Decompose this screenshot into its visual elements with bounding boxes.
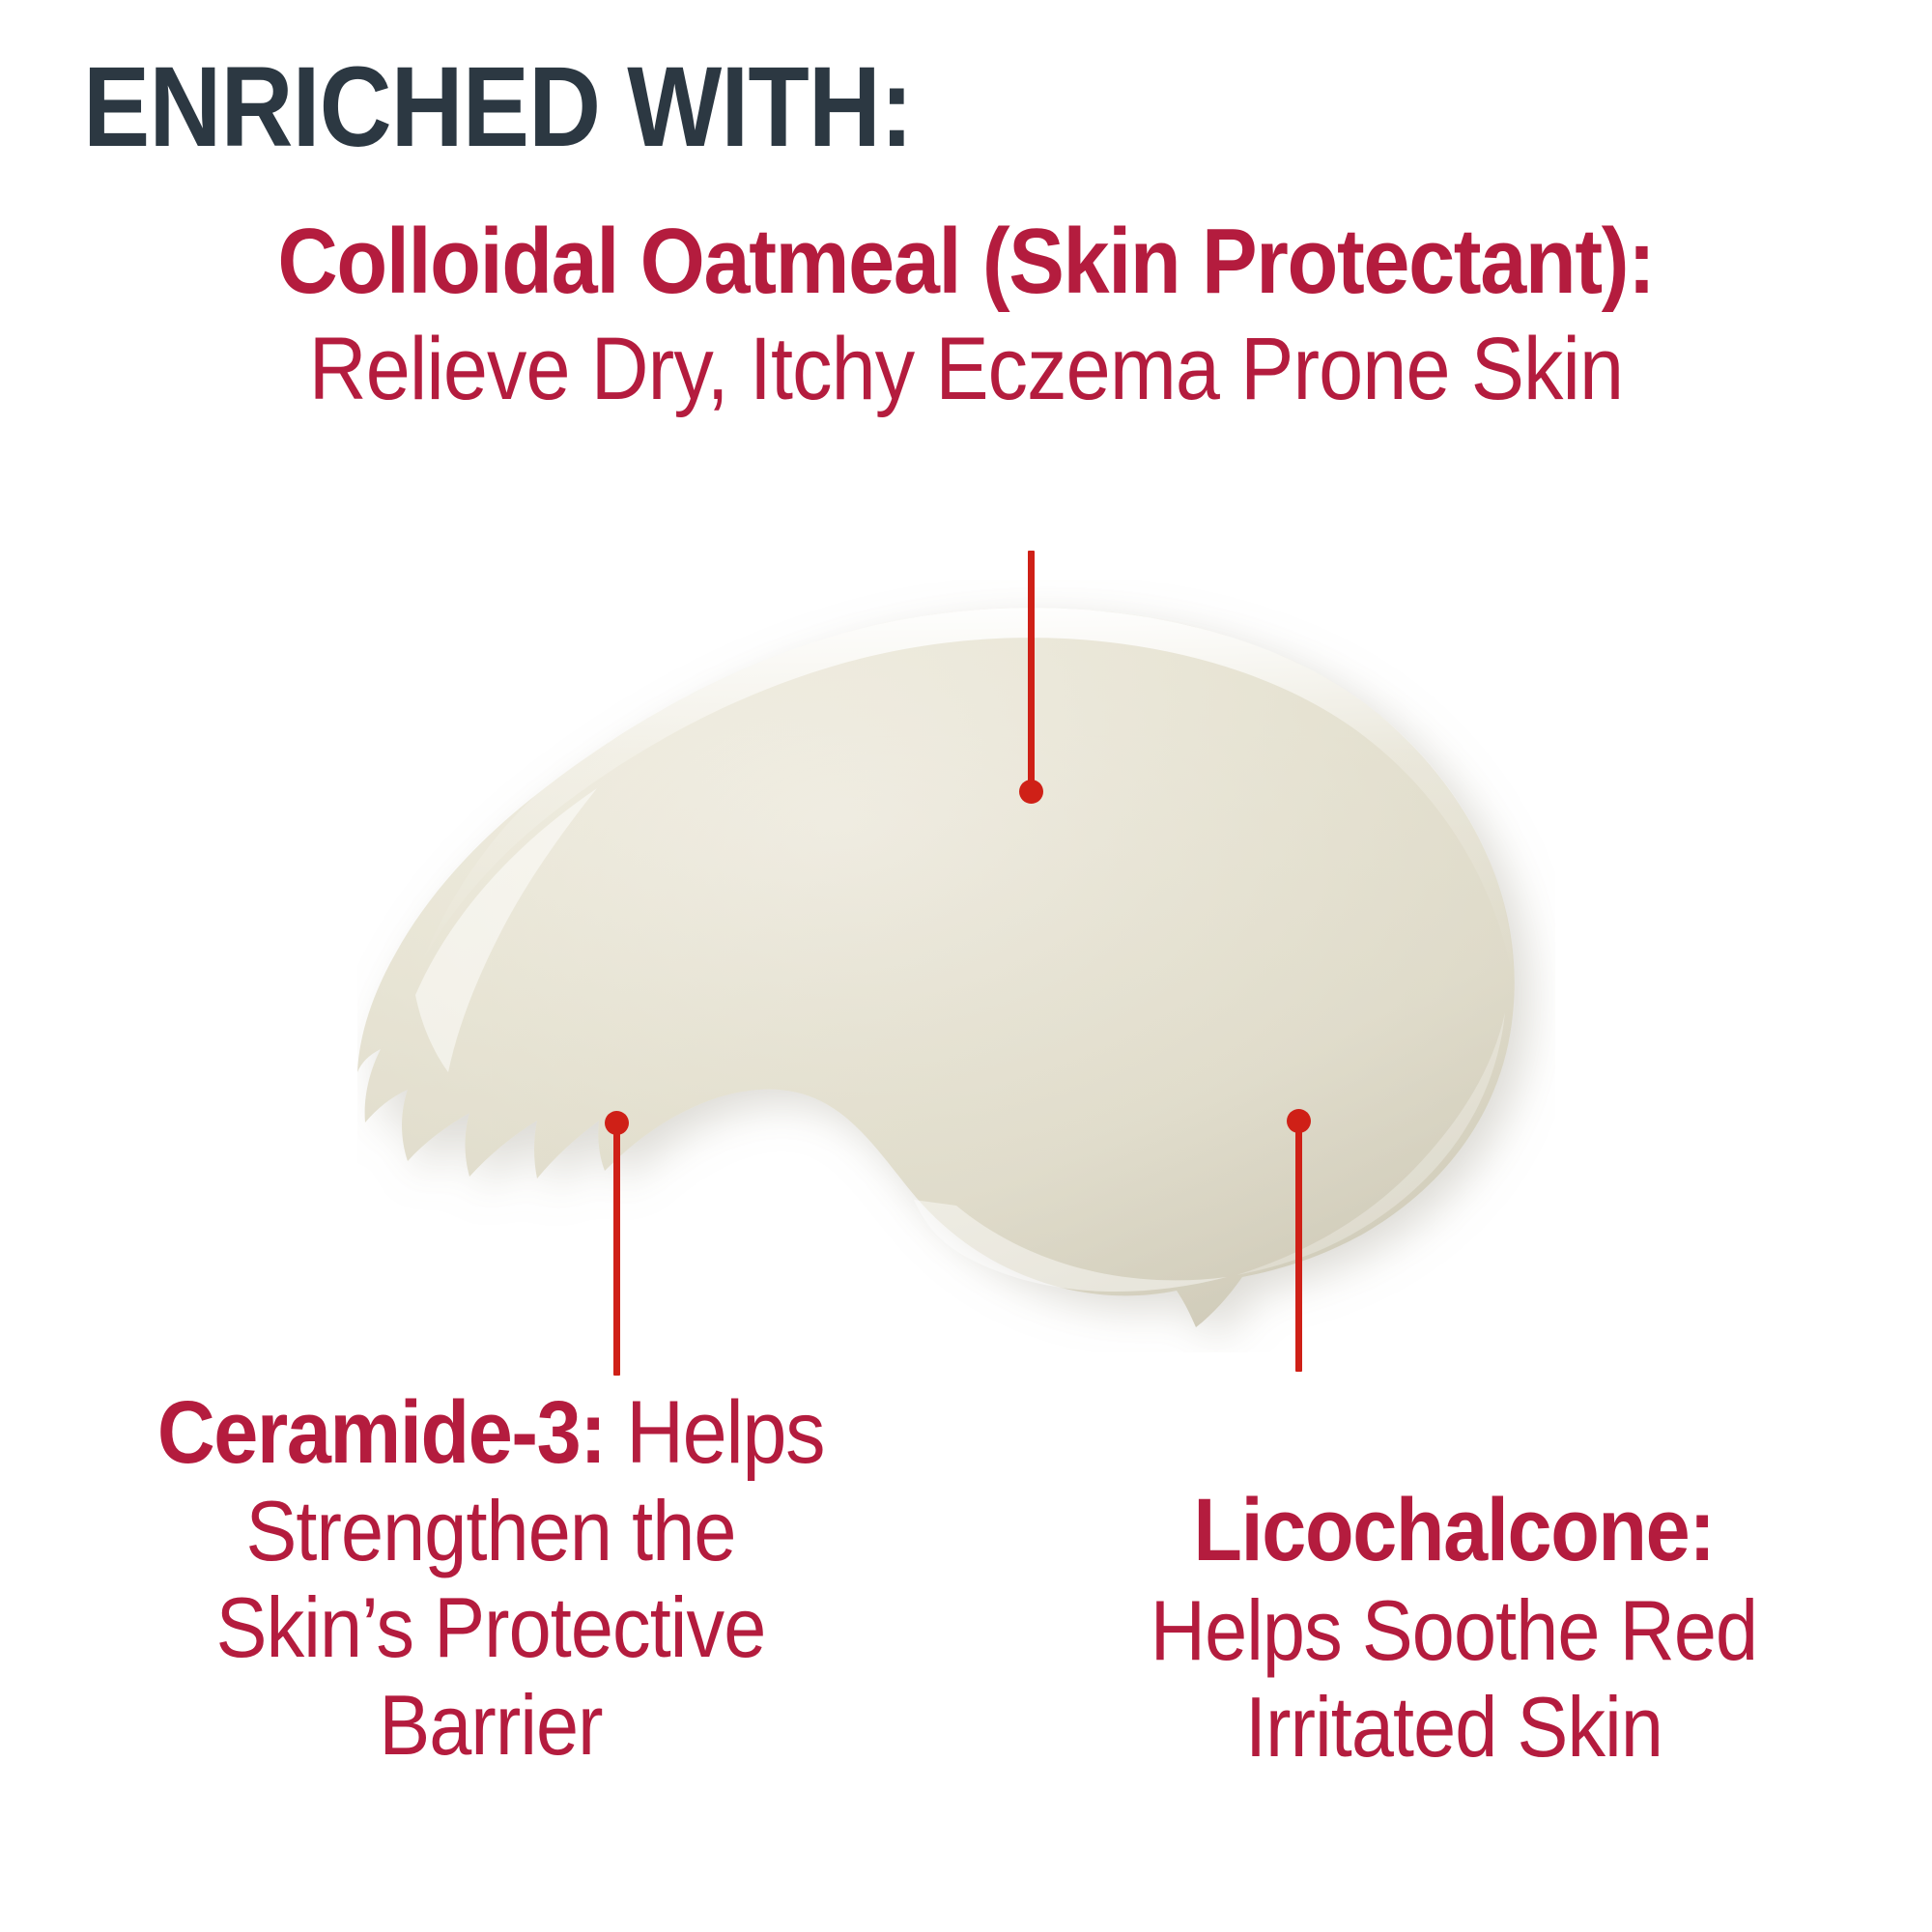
ingredient-block-ceramide-3: Ceramide-3: Helps Strengthen the Skin’s …: [27, 1383, 954, 1774]
ingredient-name-colloidal-oatmeal: Colloidal Oatmeal (Skin Protectant):: [97, 208, 1835, 315]
pointer-line-icon: [1028, 551, 1035, 792]
ingredient-name-licochalcone: Licochalcone:: [1041, 1480, 1867, 1582]
pointer-dot-icon: [605, 1111, 629, 1135]
page-title: ENRICHED WITH:: [83, 50, 913, 164]
pointer-dot-icon: [1287, 1109, 1311, 1133]
cream-swatch: [357, 580, 1555, 1352]
ingredient-name-ceramide-3-suffix: Helps: [606, 1383, 825, 1482]
ingredient-block-licochalcone: Licochalcone: Helps Soothe Red Irritated…: [995, 1480, 1913, 1776]
ingredient-benefit-licochalcone-line1: Helps Soothe Red: [1041, 1582, 1867, 1679]
pointer-dot-icon: [1019, 780, 1043, 804]
ingredient-benefit-ceramide-3-line3: Barrier: [73, 1677, 908, 1774]
ingredient-benefit-licochalcone-line2: Irritated Skin: [1041, 1679, 1867, 1776]
ingredient-name-ceramide-3: Ceramide-3: Helps: [73, 1383, 908, 1483]
pointer-line-icon: [1295, 1121, 1302, 1372]
ingredient-benefit-ceramide-3-line1: Strengthen the: [73, 1483, 908, 1579]
ingredient-block-colloidal-oatmeal: Colloidal Oatmeal (Skin Protectant): Rel…: [0, 208, 1932, 421]
ingredient-name-ceramide-3-label: Ceramide-3:: [157, 1383, 606, 1482]
pointer-line-icon: [613, 1122, 620, 1376]
product-ingredient-infographic: ENRICHED WITH: Colloidal Oatmeal (Skin P…: [0, 0, 1932, 1932]
ingredient-benefit-ceramide-3-line2: Skin’s Protective: [73, 1579, 908, 1676]
ingredient-benefit-colloidal-oatmeal: Relieve Dry, Itchy Eczema Prone Skin: [97, 319, 1835, 421]
